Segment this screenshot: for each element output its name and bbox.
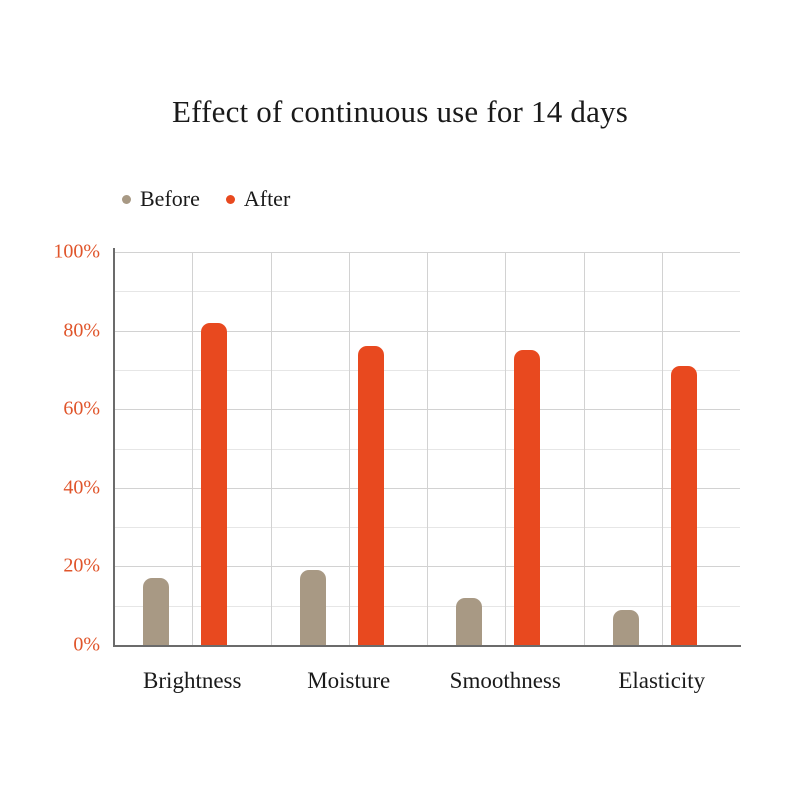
x-axis-line <box>113 645 741 647</box>
bar-before-moisture[interactable] <box>300 570 326 645</box>
x-label-moisture: Moisture <box>307 668 390 694</box>
gridline-vertical <box>427 252 428 645</box>
legend-item-after[interactable]: After <box>226 188 290 210</box>
bar-after-elasticity[interactable] <box>671 366 697 645</box>
dot-marker-icon <box>122 195 131 204</box>
bar-before-smoothness[interactable] <box>456 598 482 645</box>
y-tick-label: 80% <box>40 319 100 342</box>
gridline-vertical <box>662 252 663 645</box>
gridline-vertical <box>271 252 272 645</box>
x-label-smoothness: Smoothness <box>450 668 561 694</box>
y-axis-tick-labels: 0%20%40%60%80%100% <box>36 252 100 645</box>
bar-after-smoothness[interactable] <box>514 350 540 645</box>
x-axis-category-labels: BrightnessMoistureSmoothnessElasticity <box>114 668 740 708</box>
bar-before-brightness[interactable] <box>143 578 169 645</box>
y-axis-line <box>113 248 115 647</box>
legend-item-before[interactable]: Before <box>122 188 200 210</box>
gridline-vertical <box>584 252 585 645</box>
legend-label-after: After <box>244 188 290 210</box>
x-label-brightness: Brightness <box>143 668 241 694</box>
gridline-vertical <box>192 252 193 645</box>
y-tick-label: 60% <box>40 398 100 421</box>
y-tick-label: 0% <box>40 634 100 657</box>
x-label-elasticity: Elasticity <box>618 668 705 694</box>
bar-after-moisture[interactable] <box>358 346 384 645</box>
bar-chart: Effect of continuous use for 14 days Bef… <box>0 0 800 800</box>
plot-area <box>114 252 740 645</box>
chart-legend: Before After <box>122 188 290 210</box>
legend-label-before: Before <box>140 188 200 210</box>
gridline-vertical <box>505 252 506 645</box>
bar-after-brightness[interactable] <box>201 323 227 645</box>
dot-marker-icon <box>226 195 235 204</box>
bar-before-elasticity[interactable] <box>613 610 639 645</box>
chart-title: Effect of continuous use for 14 days <box>0 94 800 130</box>
y-tick-label: 40% <box>40 476 100 499</box>
y-tick-label: 20% <box>40 555 100 578</box>
y-tick-label: 100% <box>40 241 100 264</box>
gridline-vertical <box>349 252 350 645</box>
